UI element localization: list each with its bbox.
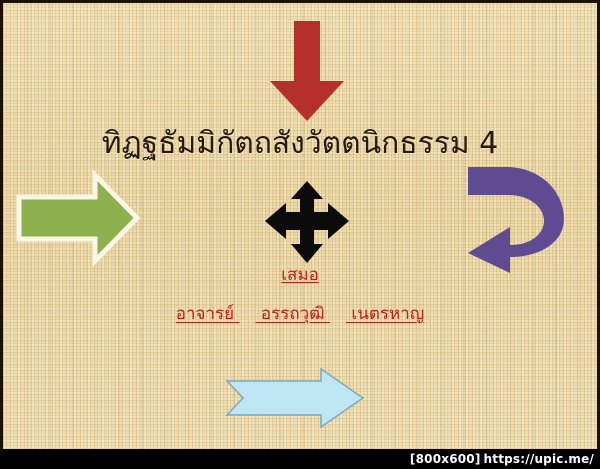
watermark-bar: [800x600]https://upic.me/ <box>0 449 600 469</box>
watermark-url: https://upic.me/ <box>484 452 594 466</box>
watermark-text: [800x600]https://upic.me/ <box>410 452 594 466</box>
red-down-arrow-icon <box>261 21 353 121</box>
light-blue-right-arrow-icon <box>225 367 365 429</box>
black-four-way-arrow-icon <box>265 181 349 263</box>
author-prefix: อาจารย์ <box>176 304 234 324</box>
purple-uturn-arrow-icon <box>458 161 576 273</box>
green-right-arrow-icon <box>15 171 141 265</box>
slide-image: ทิฏฐธัมมิกัตถสังวัตตนิกธรรม 4 เสมอ อาจาร… <box>0 0 600 469</box>
author-first-name: อรรถวุฒิ <box>261 304 325 324</box>
author-last-name: เนตรหาญ <box>351 304 424 324</box>
page-title: ทิฏฐธัมมิกัตถสังวัตตนิกธรรม 4 <box>3 127 597 160</box>
subtitle-text: เสมอ <box>3 261 597 288</box>
author-line: อาจารย์ อรรถวุฒิ เนตรหาญ <box>3 300 597 327</box>
watermark-dimensions: [800x600] <box>410 452 481 466</box>
slide-canvas: ทิฏฐธัมมิกัตถสังวัตตนิกธรรม 4 เสมอ อาจาร… <box>3 3 597 449</box>
